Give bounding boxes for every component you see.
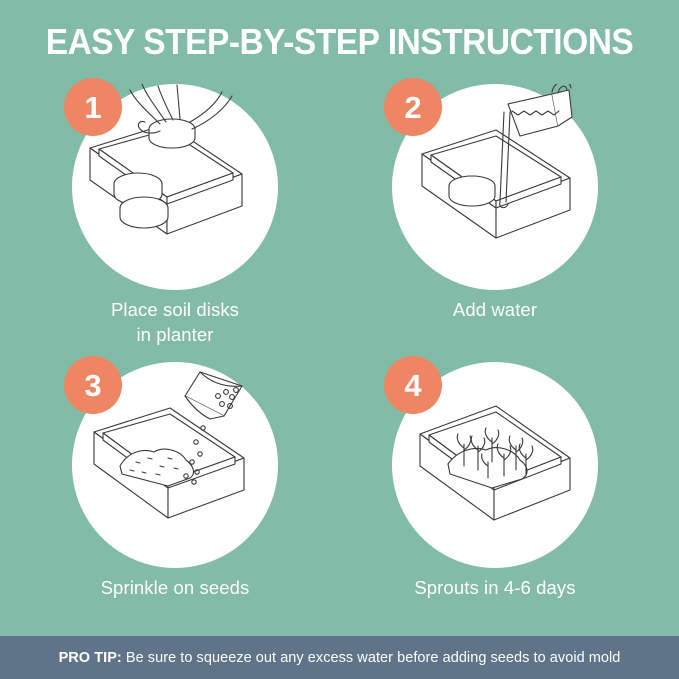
step-caption-1-line1: Place soil disks <box>15 297 335 322</box>
step-caption-1: Place soil disks in planter <box>15 297 335 347</box>
step-number-badge-4: 4 <box>384 356 442 414</box>
step-card-4: 4 Sprouts in 4-6 days <box>335 362 655 632</box>
step-illustration-3: 3 <box>72 362 278 568</box>
step-card-1: 1 Place soil disks in planter <box>15 84 335 354</box>
instruction-infographic: EASY STEP-BY-STEP INSTRUCTIONS <box>0 0 679 679</box>
step-caption-2-line1: Add water <box>335 297 655 322</box>
step-caption-4: Sprouts in 4-6 days <box>335 575 655 600</box>
step-illustration-4: 4 <box>392 362 598 568</box>
step-illustration-2: 2 <box>392 84 598 290</box>
step-card-2: 2 Add water <box>335 84 655 354</box>
step-caption-1-line2: in planter <box>15 322 335 347</box>
steps-grid: 1 Place soil disks in planter <box>0 84 679 624</box>
page-title: EASY STEP-BY-STEP INSTRUCTIONS <box>24 22 655 62</box>
pro-tip-bar: PRO TIP: Be sure to squeeze out any exce… <box>0 636 679 679</box>
step-number-badge-1: 1 <box>64 78 122 136</box>
pro-tip-label: PRO TIP: <box>59 650 122 666</box>
step-card-3: 3 Sprinkle on seeds <box>15 362 335 632</box>
step-caption-4-line1: Sprouts in 4-6 days <box>335 575 655 600</box>
pro-tip-text: PRO TIP: Be sure to squeeze out any exce… <box>59 650 621 666</box>
step-number-badge-3: 3 <box>64 356 122 414</box>
pro-tip-body: Be sure to squeeze out any excess water … <box>122 650 621 666</box>
step-illustration-1: 1 <box>72 84 278 290</box>
step-caption-3: Sprinkle on seeds <box>15 575 335 600</box>
step-number-badge-2: 2 <box>384 78 442 136</box>
step-caption-3-line1: Sprinkle on seeds <box>15 575 335 600</box>
step-caption-2: Add water <box>335 297 655 322</box>
